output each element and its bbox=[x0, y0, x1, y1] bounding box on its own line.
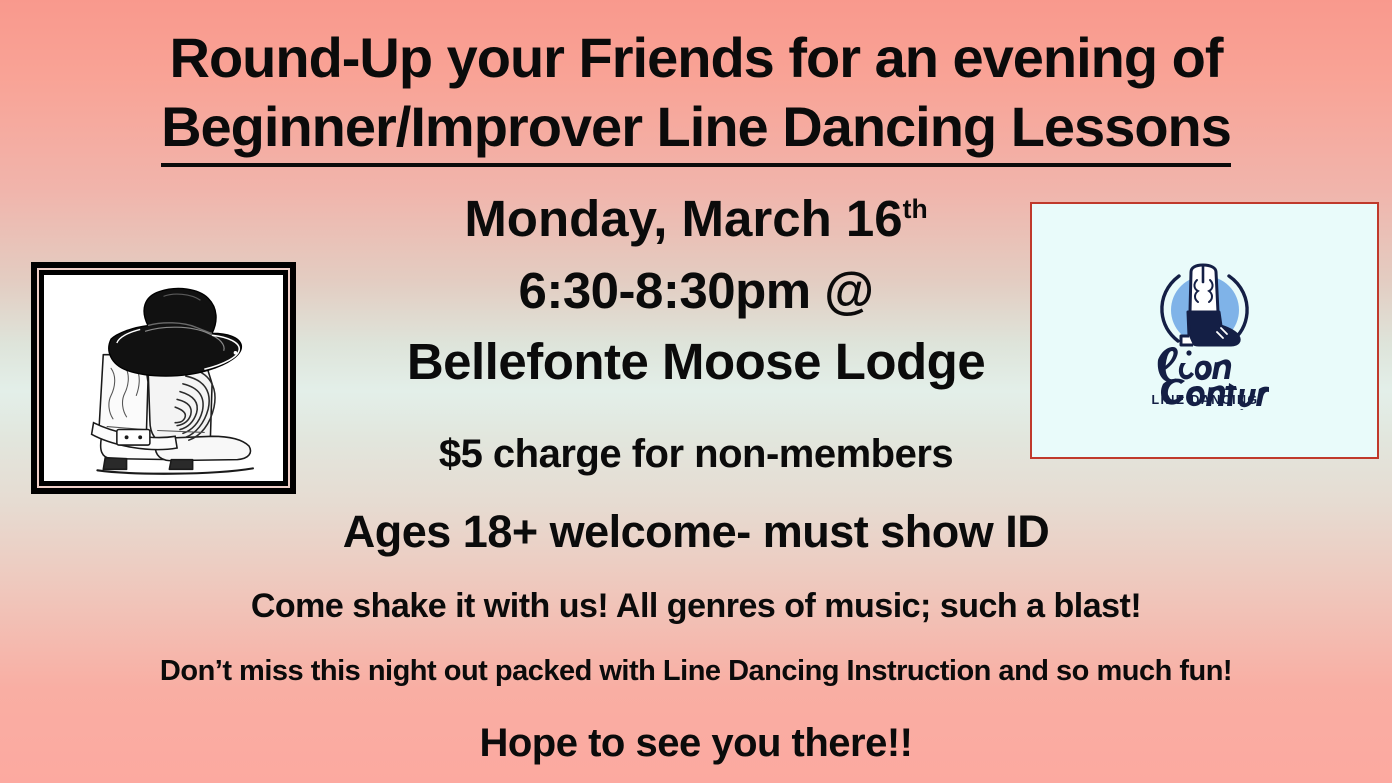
lion-country-logo-card: LINE DANCING bbox=[1030, 202, 1379, 459]
lion-country-line-dancing-logo: LINE DANCING bbox=[1141, 252, 1269, 410]
headline-line-2-underlined-text: Beginner/Improver Line Dancing Lessons bbox=[161, 95, 1231, 167]
headline-line-2: Beginner/Improver Line Dancing Lessons bbox=[0, 99, 1392, 155]
tagline-secondary: Don’t miss this night out packed with Li… bbox=[0, 657, 1392, 686]
event-date-ordinal: th bbox=[903, 194, 928, 224]
closing-line: Hope to see you there!! bbox=[0, 723, 1392, 763]
event-age-policy: Ages 18+ welcome- must show ID bbox=[0, 509, 1392, 554]
headline-line-1: Round-Up your Friends for an evening of bbox=[0, 30, 1392, 86]
flyer-canvas: Round-Up your Friends for an evening of … bbox=[0, 0, 1392, 783]
tagline-primary: Come shake it with us! All genres of mus… bbox=[0, 589, 1392, 623]
event-date-text: Monday, March 16 bbox=[464, 190, 902, 247]
logo-subtitle-text: LINE DANCING bbox=[1151, 393, 1258, 407]
